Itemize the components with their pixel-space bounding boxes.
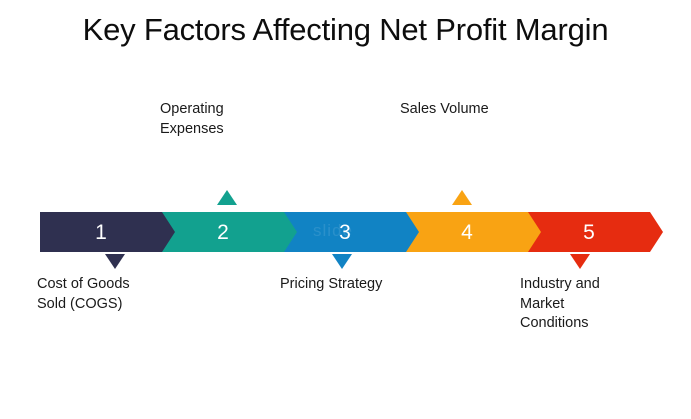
step-number-2: 2	[217, 222, 229, 243]
step-label-5: Industry and Market Conditions	[520, 275, 680, 334]
chevron-tip-icon-1	[162, 212, 175, 252]
marker-triangle-down-1	[105, 254, 125, 269]
chevron-tip-icon-5	[650, 212, 663, 252]
marker-triangle-up-4	[452, 190, 472, 205]
step-number-5: 5	[583, 222, 595, 243]
process-arrow-bar: 1 2 3 4 5	[40, 212, 650, 252]
process-step-1[interactable]: 1	[40, 212, 162, 252]
marker-triangle-down-3	[332, 254, 352, 269]
page-title: Key Factors Affecting Net Profit Margin	[0, 12, 691, 48]
step-number-1: 1	[95, 222, 107, 243]
step-number-3: 3	[339, 222, 351, 243]
chevron-tip-icon-3	[406, 212, 419, 252]
step-label-2: Operating Expenses	[160, 100, 310, 139]
process-step-2[interactable]: 2	[162, 212, 284, 252]
step-label-3: Pricing Strategy	[280, 275, 450, 295]
process-step-5[interactable]: 5	[528, 212, 650, 252]
chevron-tip-icon-2	[284, 212, 297, 252]
step-label-1: Cost of Goods Sold (COGS)	[37, 275, 187, 314]
chevron-tip-icon-4	[528, 212, 541, 252]
process-step-3[interactable]: 3	[284, 212, 406, 252]
process-step-4[interactable]: 4	[406, 212, 528, 252]
marker-triangle-up-2	[217, 190, 237, 205]
step-number-4: 4	[461, 222, 473, 243]
step-label-4: Sales Volume	[400, 100, 570, 120]
marker-triangle-down-5	[570, 254, 590, 269]
